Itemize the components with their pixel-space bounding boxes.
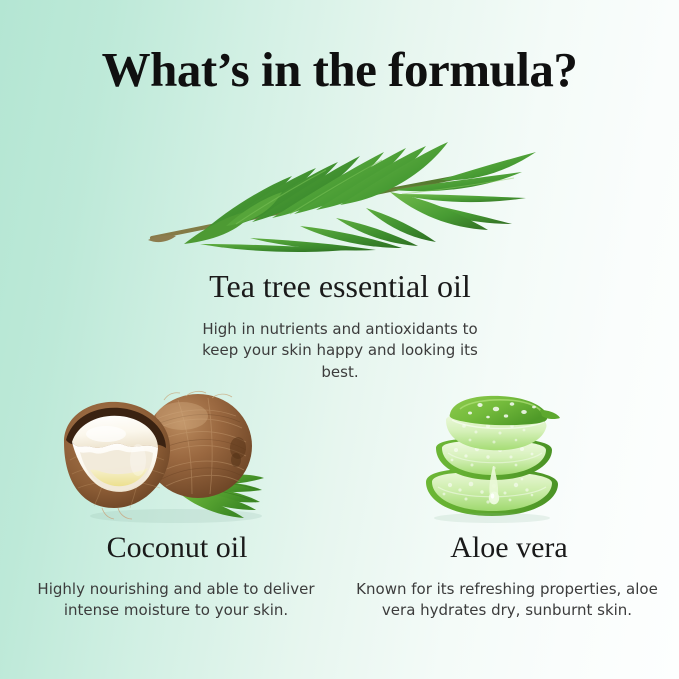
page-title: What’s in the formula? — [0, 44, 679, 95]
ingredient-block-aloe: Aloe vera Known for its refreshing prope… — [340, 390, 670, 622]
ingredient-block-coconut: Coconut oil Highly nourishing and able t… — [8, 390, 338, 622]
tea-tree-sprig-illustration — [140, 126, 540, 258]
ingredient-description-aloe: Known for its refreshing properties, alo… — [352, 579, 662, 622]
coconut-illustration — [46, 390, 306, 525]
aloe-vera-slices-illustration — [408, 390, 578, 525]
ingredient-heading-aloe: Aloe vera — [348, 531, 670, 565]
ingredient-heading-tea-tree: Tea tree essential oil — [140, 268, 540, 305]
aloe-slice-top — [446, 396, 560, 450]
ingredient-heading-coconut: Coconut oil — [16, 531, 338, 565]
ingredients-poster: What’s in the formula? — [0, 0, 679, 679]
ingredient-description-coconut: Highly nourishing and able to deliver in… — [26, 579, 326, 622]
ingredient-description-tea-tree: High in nutrients and antioxidants to ke… — [190, 319, 490, 383]
ingredient-block-tea-tree: Tea tree essential oil High in nutrients… — [140, 126, 540, 383]
